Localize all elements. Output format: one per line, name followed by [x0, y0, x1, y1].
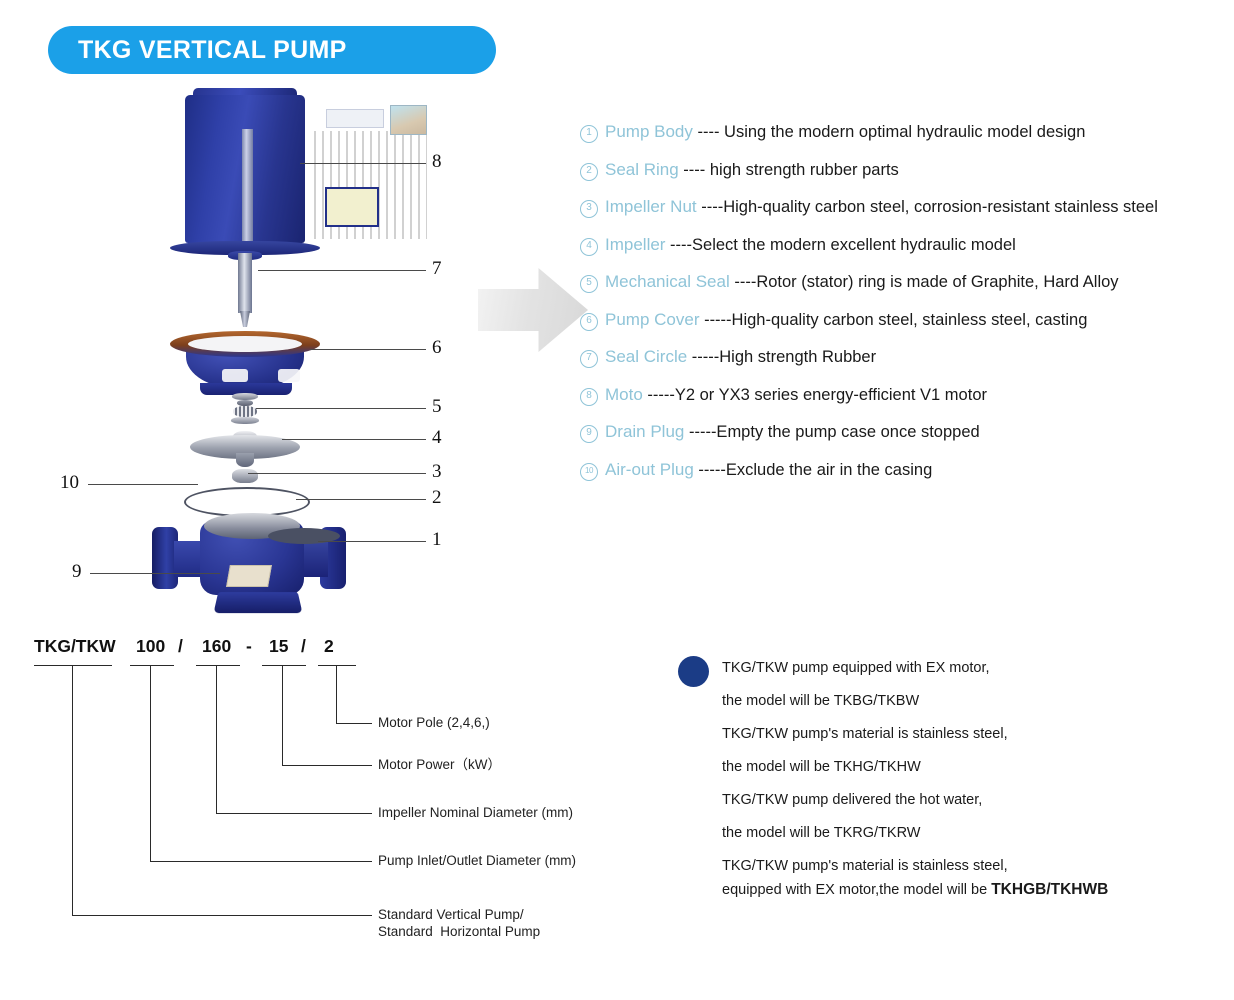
impeller-nut-part [232, 469, 258, 483]
legend-item: 10 Air-out Plug -----Exclude the air in … [580, 460, 1230, 498]
code-elbow-pole [336, 723, 372, 724]
code-underline-power [262, 665, 306, 666]
legend-part-desc: ---- high strength rubber parts [679, 161, 899, 180]
code-segment-impeller: 160 [202, 636, 231, 657]
legend-part-name: Impeller [605, 235, 665, 255]
legend-number-icon: 4 [580, 238, 598, 256]
legend-item: 4 Impeller ----Select the modern excelle… [580, 235, 1230, 273]
legend-number-icon: 10 [580, 463, 598, 481]
legend-part-desc: ----Rotor (stator) ring is made of Graph… [730, 273, 1119, 292]
leader-line-10 [88, 484, 198, 485]
code-elbow-impeller [216, 813, 372, 814]
legend-part-desc: ----High-quality carbon steel, corrosion… [697, 198, 1158, 217]
seal-spring [233, 406, 257, 417]
code-segment-series: TKG/TKW [34, 636, 116, 657]
legend-part-name: Drain Plug [605, 422, 684, 442]
legend-item: 3 Impeller Nut ----High-quality carbon s… [580, 197, 1230, 235]
leader-line-9 [90, 573, 220, 574]
leader-line-3 [248, 473, 426, 474]
seal-ring-a [232, 393, 258, 400]
callout-number-8: 8 [432, 151, 442, 173]
legend-part-name: Moto [605, 385, 643, 405]
code-segment-power: 15 [269, 636, 288, 657]
arrow-right-icon [478, 268, 588, 352]
legend-part-desc: -----Empty the pump case once stopped [684, 423, 979, 442]
variant-line-last: equipped with EX motor,the model will be… [722, 881, 1108, 899]
exploded-pump-figure: 8 7 6 5 4 3 2 1 10 9 [60, 95, 480, 605]
legend-part-desc: -----High strength Rubber [687, 348, 876, 367]
variant-last-model: TKHGB/TKHWB [991, 881, 1108, 898]
callout-number-6: 6 [432, 337, 442, 359]
legend-part-name: Mechanical Seal [605, 272, 730, 292]
pump-cover-rim [170, 331, 320, 357]
leader-line-4 [282, 439, 426, 440]
code-elbow-power [282, 765, 372, 766]
callout-number-3: 3 [432, 461, 442, 483]
legend-part-name: Pump Cover [605, 310, 699, 330]
callout-number-7: 7 [432, 258, 442, 280]
legend-item: 9 Drain Plug -----Empty the pump case on… [580, 422, 1230, 460]
legend-part-name: Air-out Plug [605, 460, 694, 480]
legend-item: 2 Seal Ring ---- high strength rubber pa… [580, 160, 1230, 198]
legend-number-icon: 7 [580, 350, 598, 368]
legend-item: 8 Moto -----Y2 or YX3 series energy-effi… [580, 385, 1230, 423]
code-callout-impeller: Impeller Nominal Diameter (mm) [378, 804, 573, 821]
callout-number-2: 2 [432, 487, 442, 509]
legend-number-icon: 5 [580, 275, 598, 293]
legend-part-desc: -----Exclude the air in the casing [694, 461, 932, 480]
code-separator-2: - [246, 636, 252, 657]
variant-line: the model will be TKBG/TKBW [722, 693, 919, 709]
code-segment-pole: 2 [324, 636, 334, 657]
page-root: TKG VERTICAL PUMP [0, 0, 1234, 1000]
callout-number-10: 10 [60, 472, 79, 494]
pump-body-label [226, 565, 272, 587]
seal-ring-d [231, 417, 259, 424]
callout-number-4: 4 [432, 427, 442, 449]
code-callout-series-2: Standard Horizontal Pump [378, 923, 540, 940]
legend-number-icon: 1 [580, 125, 598, 143]
legend-part-desc: -----High-quality carbon steel, stainles… [699, 311, 1087, 330]
motor-terminal-box [325, 187, 379, 227]
pump-base-foot [213, 592, 302, 613]
bullet-circle-icon [678, 656, 709, 687]
legend-number-icon: 2 [580, 163, 598, 181]
code-callout-power: Motor Power（kW） [378, 756, 501, 773]
motor-shaft-column [242, 129, 253, 241]
legend-item: 5 Mechanical Seal ----Rotor (stator) rin… [580, 272, 1230, 310]
motor-nameplate [326, 109, 384, 128]
variant-line: TKG/TKW pump equipped with EX motor, [722, 660, 990, 676]
callout-number-9: 9 [72, 561, 82, 583]
variant-line: TKG/TKW pump's material is stainless ste… [722, 726, 1008, 742]
parts-legend-list: 1 Pump Body ---- Using the modern optima… [580, 122, 1230, 497]
callout-number-1: 1 [432, 529, 442, 551]
legend-number-icon: 3 [580, 200, 598, 218]
pump-body-top-face [204, 513, 300, 539]
legend-part-name: Seal Ring [605, 160, 679, 180]
pump-body-part [152, 503, 348, 621]
code-segment-inlet: 100 [136, 636, 165, 657]
code-dropline-inlet [150, 665, 151, 861]
code-elbow-inlet [150, 861, 372, 862]
code-separator-3: / [301, 636, 306, 657]
title-banner: TKG VERTICAL PUMP [48, 26, 496, 74]
legend-item: 7 Seal Circle -----High strength Rubber [580, 347, 1230, 385]
code-callout-series-1: Standard Vertical Pump/ [378, 906, 524, 923]
pump-cover-window-left [222, 369, 248, 382]
code-callout-pole: Motor Pole (2,4,6,) [378, 714, 490, 731]
leader-line-5 [256, 408, 426, 409]
legend-number-icon: 8 [580, 388, 598, 406]
code-dropline-series [72, 665, 73, 915]
legend-part-name: Pump Body [605, 122, 693, 142]
code-elbow-series [72, 915, 372, 916]
leader-line-2 [296, 499, 426, 500]
model-code-nomenclature: TKG/TKW 100 / 160 - 15 / 2 Motor Pole (2… [26, 636, 626, 966]
variant-line: the model will be TKRG/TKRW [722, 825, 921, 841]
pump-cover-part [170, 331, 320, 393]
code-callout-inlet: Pump Inlet/Outlet Diameter (mm) [378, 852, 576, 869]
legend-number-icon: 6 [580, 313, 598, 331]
leader-line-6 [310, 349, 426, 350]
motor-sticker [390, 105, 427, 135]
shaft-tip [240, 311, 250, 327]
legend-part-desc: -----Y2 or YX3 series energy-efficient V… [643, 386, 987, 405]
pump-cover-rim-inner [188, 336, 302, 352]
variant-last-prefix: equipped with EX motor,the model will be [722, 882, 991, 898]
code-underline-series [34, 665, 112, 666]
legend-item: 1 Pump Body ---- Using the modern optima… [580, 122, 1230, 160]
leader-line-1 [318, 541, 426, 542]
code-separator-1: / [178, 636, 183, 657]
code-underline-impeller [196, 665, 240, 666]
mechanical-seal-part [228, 393, 262, 427]
legend-item: 6 Pump Cover -----High-quality carbon st… [580, 310, 1230, 348]
leader-line-8 [300, 163, 426, 164]
legend-part-name: Impeller Nut [605, 197, 697, 217]
code-dropline-pole [336, 665, 337, 723]
code-dropline-power [282, 665, 283, 765]
legend-part-name: Seal Circle [605, 347, 687, 367]
variant-line: the model will be TKHG/TKHW [722, 759, 921, 775]
page-title: TKG VERTICAL PUMP [78, 36, 347, 65]
legend-number-icon: 9 [580, 425, 598, 443]
pump-cover-window-right [278, 369, 300, 382]
code-underline-pole [318, 665, 356, 666]
code-underline-inlet [130, 665, 174, 666]
pump-shaft [238, 253, 252, 313]
callout-number-5: 5 [432, 396, 442, 418]
variant-line: TKG/TKW pump delivered the hot water, [722, 792, 982, 808]
impeller-boss [236, 453, 254, 467]
variant-line: TKG/TKW pump's material is stainless ste… [722, 858, 1008, 874]
impeller-part [190, 431, 300, 467]
leader-line-7 [258, 270, 426, 271]
legend-part-desc: ---- Using the modern optimal hydraulic … [693, 123, 1086, 142]
code-dropline-impeller [216, 665, 217, 813]
legend-part-desc: ----Select the modern excellent hydrauli… [665, 236, 1015, 255]
